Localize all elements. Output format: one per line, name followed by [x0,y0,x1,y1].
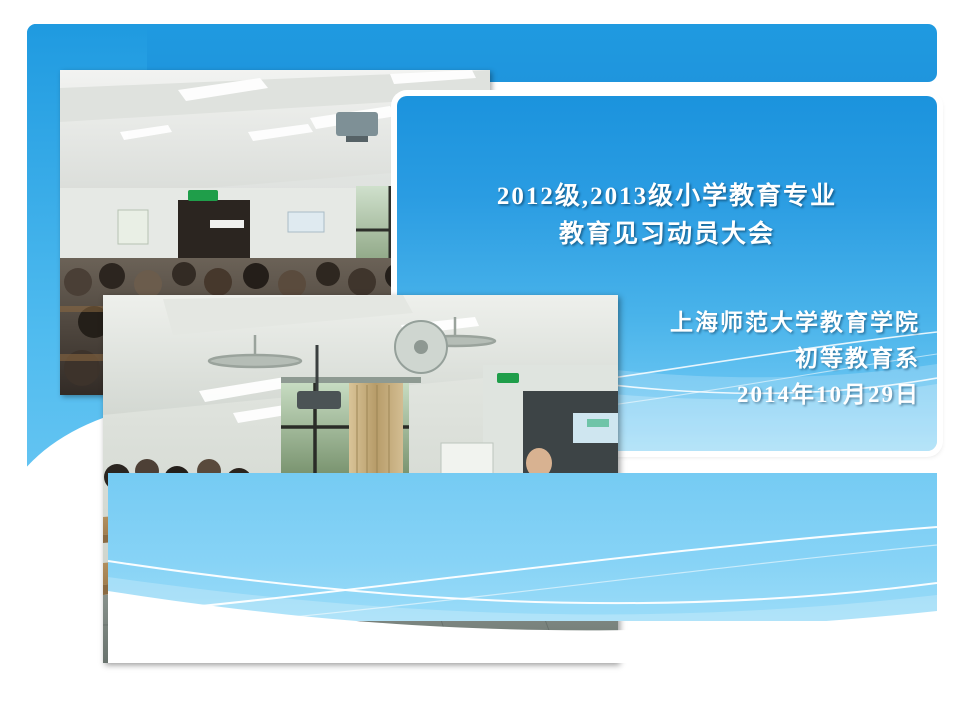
title-slide: 2012级,2013级小学教育专业 教育见习动员大会 上海师范大学教育学院 初等… [0,0,960,720]
lower-block-waves [108,473,937,663]
subtitle-line-1: 上海师范大学教育学院 [430,305,920,341]
slide-subtitle: 上海师范大学教育学院 初等教育系 2014年10月29日 [430,305,920,413]
subtitle-line-2: 初等教育系 [430,341,920,377]
subtitle-line-3: 2014年10月29日 [430,377,920,413]
lower-accent-block [108,473,937,663]
